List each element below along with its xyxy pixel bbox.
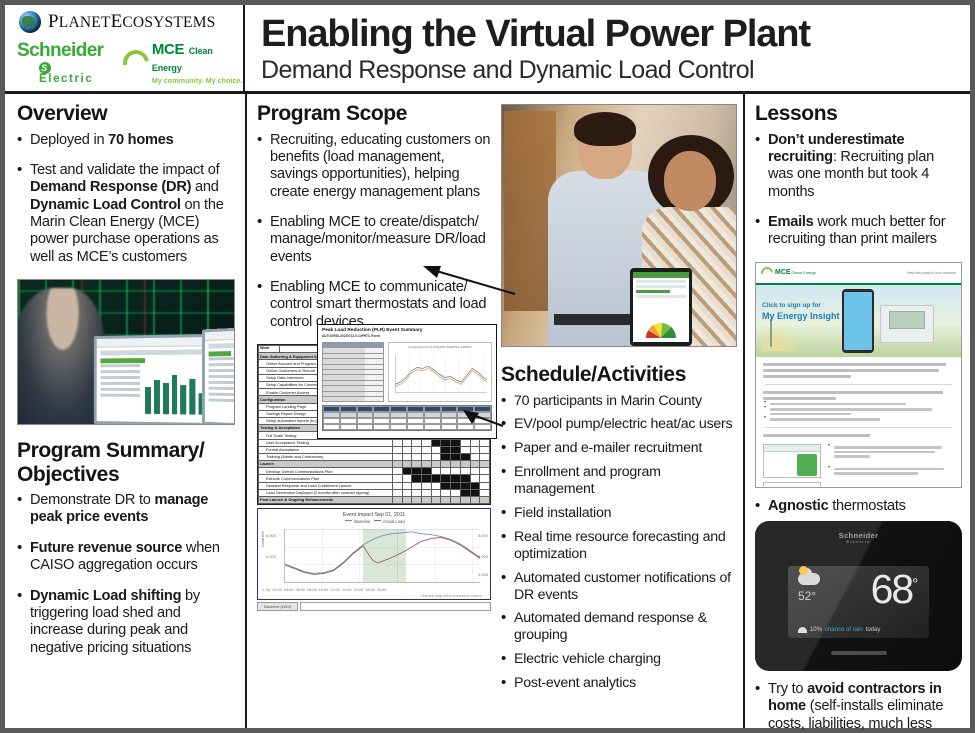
program-scope-heading: Program Scope xyxy=(257,102,491,126)
chart-plot-area xyxy=(284,529,480,583)
email-body-line xyxy=(763,375,851,378)
schneider-wordmark: Schneider xyxy=(17,41,107,60)
control-room-photo xyxy=(17,279,235,425)
monitor-secondary xyxy=(202,326,235,425)
gantt-cell xyxy=(441,497,451,504)
gantt-task-label: User Acceptance Testing xyxy=(259,439,393,446)
series-baseline xyxy=(285,532,480,574)
email-hero-banner: Click to sign up for My Energy Insight xyxy=(756,285,961,357)
mce-arc-icon xyxy=(118,45,154,81)
schedule-bullet: Post-event analytics xyxy=(501,675,737,692)
chart-title: Event Impact Sep 01, 2011 xyxy=(258,512,490,518)
gantt-cell xyxy=(422,453,432,460)
gantt-cell xyxy=(422,461,432,468)
column-program-scope: Program Scope Recruiting, educating cust… xyxy=(247,94,497,728)
gantt-cell xyxy=(431,468,441,475)
mce-wordmark: MCE Clean Energy My community. My choice… xyxy=(152,42,243,84)
series-actual xyxy=(285,538,480,575)
gantt-cell xyxy=(451,489,461,496)
gantt-col-work: Work xyxy=(259,346,280,353)
gantt-task-row: Formal Acceptance xyxy=(259,446,490,453)
plr-chart-svg xyxy=(395,355,487,393)
plr-metric-row xyxy=(322,364,384,369)
lessons-bullet-1: Don’t underestimate recruiting: Recruiti… xyxy=(755,132,962,201)
gantt-cell xyxy=(402,497,412,504)
monitor2-toolbar xyxy=(205,330,235,341)
gantt-cell xyxy=(480,475,490,482)
gantt-cell xyxy=(451,482,461,489)
gantt-cell xyxy=(402,446,412,453)
plr-metrics-table xyxy=(322,342,384,402)
person-left-hair xyxy=(574,112,636,146)
gantt-cell xyxy=(480,489,490,496)
gantt-cell xyxy=(451,468,461,475)
title-block: Enabling the Virtual Power Plant Demand … xyxy=(243,5,970,91)
gantt-cell xyxy=(393,482,403,489)
email-body-line xyxy=(763,369,939,372)
thumb-toolbar xyxy=(764,445,820,452)
overview-heading: Overview xyxy=(17,102,235,126)
email-mce-wordmark: MCE Clean Energy xyxy=(775,269,816,276)
overview-bullet-2: Test and validate the impact of Demand R… xyxy=(17,162,235,266)
plr-series-1 xyxy=(395,366,487,384)
plr-metric-row xyxy=(322,347,384,352)
gantt-cell xyxy=(431,489,441,496)
gantt-cell xyxy=(460,446,470,453)
gantt-cell xyxy=(480,446,490,453)
gantt-cell xyxy=(431,497,441,504)
planet-ecosystems-logo: PLANETECOSYSTEMS xyxy=(13,11,216,33)
pe-cap-p: P xyxy=(48,11,59,32)
email-footer-item xyxy=(827,446,954,458)
mce-tagline: My community. My choice. xyxy=(152,77,243,85)
schedule-bullet: Field installation xyxy=(501,505,737,522)
email-brand: MCE xyxy=(775,269,791,276)
thumb-phone-icon xyxy=(797,454,817,476)
gantt-cell xyxy=(393,439,403,446)
pe-rest-lanet: LANET xyxy=(59,14,111,31)
plr-metric-row xyxy=(322,374,384,379)
gantt-task-label: Post Launch & Ongoing Enhancements xyxy=(259,497,393,504)
chart-legend: Baseline Actual Load xyxy=(258,519,490,524)
gantt-cell xyxy=(451,461,461,468)
gantt-cell xyxy=(460,482,470,489)
legend-label-baseline: Baseline xyxy=(354,519,370,524)
email-body-line xyxy=(763,434,870,437)
tablet-line xyxy=(636,295,686,298)
email-list-item xyxy=(763,408,954,415)
chart-xticks: 1 :0y 02:00 04:00 06:00 08:00 10:00 12:0… xyxy=(262,588,386,592)
planet-ecosystems-logo-row: PLANETECOSYSTEMS xyxy=(13,11,243,33)
summary-bullet-3: Dynamic Load shifting by triggering load… xyxy=(17,588,235,657)
gantt-cell xyxy=(460,497,470,504)
gantt-task-label: Develop Overall Communications Plan xyxy=(259,468,393,475)
gantt-cell xyxy=(451,497,461,504)
tablet-line xyxy=(636,285,686,288)
gantt-cell xyxy=(422,497,432,504)
gantt-cell xyxy=(431,446,441,453)
gantt-cell xyxy=(460,453,470,460)
email-list-item xyxy=(763,403,954,406)
gantt-cell xyxy=(393,489,403,496)
schedule-bullet: Enrollment and program management xyxy=(501,464,737,498)
gantt-cell xyxy=(451,439,461,446)
poster-columns: Overview Deployed in 70 homes Test and v… xyxy=(5,94,970,728)
email-phone-image xyxy=(842,289,874,353)
gantt-task-row: Execute Communications Plan xyxy=(259,475,490,482)
schedule-bullets: 70 participants in Marin CountyEV/pool p… xyxy=(501,393,737,692)
gantt-cell xyxy=(422,468,432,475)
schedule-bullet: EV/pool pump/electric heat/ac users xyxy=(501,416,737,433)
gantt-cell xyxy=(431,482,441,489)
plr-metric-row xyxy=(322,353,384,358)
gantt-cell xyxy=(470,497,480,504)
schneider-electric-text: Electric xyxy=(39,73,93,85)
schneider-electric-logo: Schneider SElectric xyxy=(17,41,107,86)
thermostat-display xyxy=(889,311,925,329)
gantt-cell xyxy=(412,489,422,496)
gantt-task-label: Training (Admin and Contractors) xyxy=(259,453,393,460)
gantt-group-row: Post Launch & Ongoing Enhancements xyxy=(259,497,490,504)
gantt-cell xyxy=(412,461,422,468)
gantt-cell xyxy=(460,439,470,446)
tablet-header-bar xyxy=(633,272,689,278)
email-body-line xyxy=(763,391,943,394)
schedule-bullet: 70 participants in Marin County xyxy=(501,393,737,410)
gantt-cell xyxy=(451,446,461,453)
email-mce-logo: MCE Clean Energy xyxy=(761,267,816,279)
schneider-electric-line: SElectric xyxy=(39,61,107,86)
poster-header: PLANETECOSYSTEMS Schneider SElectric MCE… xyxy=(5,5,970,94)
plr-subtitle: AUTOGRID-20120713-0:14PRTC Event xyxy=(322,334,492,338)
legend-label-actual: Actual Load xyxy=(383,519,405,524)
gantt-cell xyxy=(412,497,422,504)
gantt-cell xyxy=(393,497,403,504)
gantt-cell xyxy=(431,461,441,468)
plr-metric-row xyxy=(322,358,384,363)
plr-middle: Comparison for AUTOGRID 20120713-14PRTC xyxy=(322,342,492,402)
email-dashboard-thumb xyxy=(763,444,821,478)
gantt-cell xyxy=(480,453,490,460)
gantt-task-row: Load Generation Deployed (2 months after… xyxy=(259,489,490,496)
hero-sun-glow xyxy=(762,325,802,351)
gantt-cell xyxy=(422,439,432,446)
lessons-bullets-final: Try to avoid contractors in home (self-i… xyxy=(755,681,962,733)
gantt-cell xyxy=(431,453,441,460)
email-list-item xyxy=(763,418,954,421)
tablet-accent-line xyxy=(636,290,670,293)
schedule-bullet: Automated demand response & grouping xyxy=(501,610,737,644)
gantt-cell xyxy=(480,482,490,489)
email-body-line xyxy=(763,397,836,400)
savings-gauge-icon xyxy=(646,323,676,338)
gantt-cell xyxy=(393,453,403,460)
scope-bullet-2: Enabling MCE to create/dispatch/ manage/… xyxy=(257,214,491,266)
gantt-task-row: Develop Overall Communications Plan xyxy=(259,468,490,475)
gantt-cell xyxy=(460,489,470,496)
plr-metric-row xyxy=(322,396,384,402)
email-body-line xyxy=(763,363,946,366)
email-body xyxy=(756,357,961,437)
gantt-cell xyxy=(393,461,403,468)
mce-email-screenshot: MCE Clean Energy View this email in your… xyxy=(755,262,962,488)
schedule-bullet: Automated customer notifications of DR e… xyxy=(501,570,737,604)
tablet-device xyxy=(630,268,692,346)
gantt-cell xyxy=(402,489,412,496)
monitor2-lines xyxy=(209,357,235,406)
gantt-task-label: Load Generation Deployed (2 months after… xyxy=(259,489,393,496)
plr-chart-caption: Comparison for AUTOGRID 20120713-14PRTC xyxy=(389,345,491,349)
monitor-sidebar xyxy=(101,364,141,400)
planet-ecosystems-wordmark: PLANETECOSYSTEMS xyxy=(48,11,216,33)
person-right-head xyxy=(664,151,716,211)
program-summary-heading: Program Summary/ Objectives xyxy=(17,439,235,486)
email-footer-list xyxy=(827,444,954,488)
partner-logo-row: Schneider SElectric MCE Clean Energy My … xyxy=(13,41,243,86)
gantt-task-label: Demand Response and Load Curtailment Lau… xyxy=(259,482,393,489)
gantt-cell xyxy=(402,482,412,489)
program-scope-bullets: Recruiting, educating customers on benef… xyxy=(257,132,491,332)
gantt-cell xyxy=(470,482,480,489)
gantt-cell xyxy=(470,468,480,475)
gantt-cell xyxy=(451,475,461,482)
gantt-cell xyxy=(480,461,490,468)
email-mce-arc-icon xyxy=(759,264,776,281)
poster-canvas: PLANETECOSYSTEMS Schneider SElectric MCE… xyxy=(0,0,975,733)
gantt-cell xyxy=(480,497,490,504)
summary-bullet-1: Demonstrate DR to manage peak price even… xyxy=(17,492,235,527)
gantt-cell xyxy=(441,482,451,489)
gantt-group-row: Launch xyxy=(259,461,490,468)
gantt-cell xyxy=(470,461,480,468)
operator-silhouette xyxy=(17,288,104,425)
poster-subtitle: Demand Response and Dynamic Load Control xyxy=(261,56,960,85)
gantt-task-label: Formal Acceptance xyxy=(259,446,393,453)
email-brand-sub: Clean Energy xyxy=(792,270,816,275)
column-schedule: Schedule/Activities 70 participants in M… xyxy=(497,94,743,728)
mce-clean-energy-logo: MCE Clean Energy My community. My choice… xyxy=(123,42,243,84)
plr-event-summary-panel: Peak Load Reduction (PLR) Event Summary … xyxy=(317,324,497,439)
gantt-cell xyxy=(470,475,480,482)
plr-series-2 xyxy=(395,369,487,387)
gantt-cell xyxy=(460,468,470,475)
monitor-row xyxy=(101,349,206,355)
gantt-cell xyxy=(412,446,422,453)
gantt-cell xyxy=(480,439,490,446)
monitor-bar-chart xyxy=(145,370,205,415)
customer-photo xyxy=(501,104,737,347)
email-header: MCE Clean Energy View this email in your… xyxy=(756,263,961,285)
schneider-thermostat-image: Schneider Electric 52° 68° 10% chance of… xyxy=(755,521,962,671)
gantt-cell xyxy=(441,453,451,460)
logo-group: PLANETECOSYSTEMS Schneider SElectric MCE… xyxy=(5,5,243,91)
gantt-cell xyxy=(460,461,470,468)
tablet-screen xyxy=(633,272,689,342)
plr-detail-row xyxy=(323,424,491,430)
gantt-cell xyxy=(470,489,480,496)
gantt-cell xyxy=(431,475,441,482)
gantt-cell xyxy=(412,482,422,489)
monitor2-row xyxy=(209,342,235,349)
lessons-bullet-4: Try to avoid contractors in home (self-i… xyxy=(755,681,962,733)
gantt-cell xyxy=(393,468,403,475)
schedule-bullet: Electric vehicle charging xyxy=(501,651,737,668)
plr-metric-row xyxy=(322,380,384,385)
gantt-cell xyxy=(402,439,412,446)
chart-ylabel: Load kW xyxy=(260,531,265,547)
gantt-task-row: User Acceptance Testing xyxy=(259,439,490,446)
gantt-cell xyxy=(402,453,412,460)
gantt-cell xyxy=(402,468,412,475)
email-cta-line1: Click to sign up for xyxy=(762,301,840,311)
gantt-cell xyxy=(451,453,461,460)
email-divider xyxy=(765,427,952,428)
gantt-cell xyxy=(480,468,490,475)
column-overview: Overview Deployed in 70 homes Test and v… xyxy=(5,94,247,728)
email-cta-text: Click to sign up for My Energy Insight xyxy=(762,301,840,324)
gantt-cell xyxy=(431,439,441,446)
event-impact-chart: Event Impact Sep 01, 2011 Baseline Actua… xyxy=(257,508,491,600)
email-view-in-browser-link[interactable]: View this email in your browser xyxy=(907,271,956,275)
gantt-cell xyxy=(412,468,422,475)
overview-bullets: Deployed in 70 homes Test and validate t… xyxy=(17,132,235,267)
email-divider xyxy=(765,384,952,385)
plr-metric-row xyxy=(322,391,384,396)
gantt-cell xyxy=(422,475,432,482)
chart-footnote: Click and drag in the plot area to zoom … xyxy=(420,594,482,598)
gantt-cell xyxy=(441,489,451,496)
monitor-accent-row xyxy=(101,358,145,363)
schedule-bullet: Real time resource forecasting and optim… xyxy=(501,529,737,563)
plr-title: Peak Load Reduction (PLR) Event Summary xyxy=(322,328,492,333)
program-summary-bullets: Demonstrate DR to manage peak price even… xyxy=(17,492,235,657)
email-chart-thumb xyxy=(763,482,821,488)
baseline-strip: Baseline (kWh) xyxy=(257,602,491,611)
monitor-toolbar xyxy=(97,337,210,348)
scope-bullet-1: Recruiting, educating customers on benef… xyxy=(257,132,491,201)
plr-comparison-chart: Comparison for AUTOGRID 20120713-14PRTC xyxy=(388,342,492,402)
gantt-cell xyxy=(441,468,451,475)
monitor2-accent-row xyxy=(209,351,231,356)
poster-title: Enabling the Virtual Power Plant xyxy=(261,15,960,55)
gantt-cell xyxy=(441,439,451,446)
email-cta-line2: My Energy Insight xyxy=(762,310,840,324)
chart-series-svg xyxy=(285,529,480,582)
email-footer-item xyxy=(827,468,954,475)
lessons-bullet-2: Emails work much better for recruiting t… xyxy=(755,214,962,249)
gantt-task-label: Execute Communications Plan xyxy=(259,475,393,482)
gantt-cell xyxy=(393,446,403,453)
gantt-cell xyxy=(402,461,412,468)
plr-detail-table xyxy=(322,405,492,431)
gantt-cell xyxy=(422,489,432,496)
lessons-bullets-top: Don’t underestimate recruiting: Recruiti… xyxy=(755,132,962,249)
lessons-bullet-3: Agnostic thermostats xyxy=(755,498,962,515)
gantt-task-row: Demand Response and Load Curtailment Lau… xyxy=(259,482,490,489)
chart-ytick-1: 8,000 xyxy=(266,533,276,538)
gantt-cell xyxy=(422,446,432,453)
gantt-cell xyxy=(470,446,480,453)
schedule-bullet: Paper and e-mailer recruitment xyxy=(501,440,737,457)
baseline-strip-label: Baseline (kWh) xyxy=(257,602,298,611)
gantt-cell xyxy=(470,439,480,446)
email-footer-blocks xyxy=(756,440,961,488)
monitor-primary xyxy=(94,334,213,425)
gantt-cell xyxy=(441,461,451,468)
overview-bullet-1: Deployed in 70 homes xyxy=(17,132,235,149)
gantt-task-label: Launch xyxy=(259,461,393,468)
gantt-cell xyxy=(470,453,480,460)
lessons-bullets-bottom: Agnostic thermostats xyxy=(755,498,962,515)
tablet-line xyxy=(636,280,686,283)
plr-metrics-header xyxy=(322,342,384,347)
plr-metric-row xyxy=(322,369,384,374)
gantt-cell xyxy=(412,439,422,446)
legend-swatch-baseline xyxy=(345,520,352,521)
gantt-cell xyxy=(422,482,432,489)
pe-rest-cosystems: COSYSTEMS xyxy=(122,14,215,31)
gantt-cell xyxy=(441,475,451,482)
legend-swatch-actual xyxy=(374,520,381,521)
gantt-cell xyxy=(402,475,412,482)
email-thermostat-image xyxy=(880,305,934,343)
baseline-strip-row xyxy=(300,602,491,611)
gantt-cell xyxy=(441,446,451,453)
gantt-cell xyxy=(412,475,422,482)
column-lessons: Lessons Don’t underestimate recruiting: … xyxy=(743,94,970,728)
lessons-heading: Lessons xyxy=(755,102,962,126)
chart-ytick-2: 6,000 xyxy=(266,554,276,559)
phone-screen xyxy=(844,292,872,350)
gantt-task-row: Training (Admin and Contractors) xyxy=(259,453,490,460)
email-thumb-column xyxy=(763,444,821,488)
gantt-cell xyxy=(412,453,422,460)
globe-icon xyxy=(19,11,41,33)
gantt-cell xyxy=(460,475,470,482)
pe-cap-e: E xyxy=(111,11,123,32)
mce-initials: MCE xyxy=(152,41,184,58)
summary-bullet-2: Future revenue source when CAISO aggrega… xyxy=(17,540,235,575)
schedule-heading: Schedule/Activities xyxy=(501,363,737,387)
plr-chart-plot xyxy=(395,355,487,393)
gantt-cell xyxy=(393,475,403,482)
thermostat-glass-reflection xyxy=(755,521,962,671)
plr-metric-row xyxy=(322,385,384,390)
